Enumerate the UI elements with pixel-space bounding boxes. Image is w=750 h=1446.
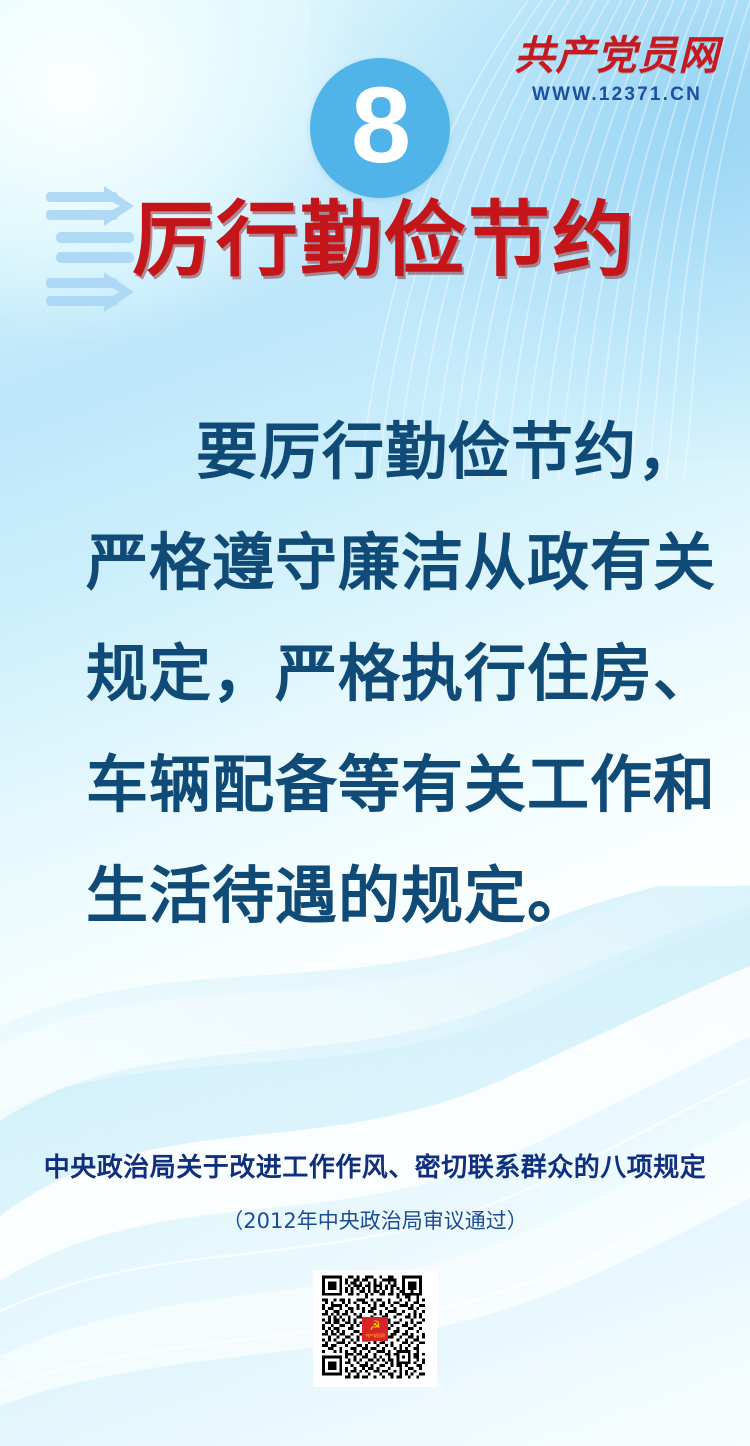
party-emblem-subtext: 共产党员网: [366, 1334, 385, 1338]
body-paragraph: 要厉行勤俭节约， 严格遵守廉洁从政有关 规定，严格执行住房、 车辆配备等有关工作…: [0, 396, 750, 951]
body-line-5: 生活待遇的规定。: [86, 840, 664, 951]
body-line-3: 规定，严格执行住房、: [86, 618, 664, 729]
footer-subtitle: （2012年中央政治局审议通过）: [0, 1208, 750, 1235]
party-emblem-glyph: ☭: [369, 1320, 381, 1333]
qr-code[interactable]: ☭ 共产党员网: [313, 1270, 437, 1387]
brand-logo[interactable]: 共产党员网 WWW.12371.CN: [502, 36, 732, 104]
body-line-4: 车辆配备等有关工作和: [86, 729, 664, 840]
page-title: 厉行勤俭节约: [132, 196, 636, 286]
number-badge-value: 8: [351, 71, 409, 179]
number-badge: 8: [310, 58, 450, 198]
party-emblem-icon: ☭ 共产党员网: [362, 1317, 388, 1341]
brand-name: 共产党员网: [502, 36, 732, 76]
brand-url: WWW.12371.CN: [502, 85, 732, 104]
body-line-2: 严格遵守廉洁从政有关: [86, 507, 664, 618]
body-line-1: 要厉行勤俭节约，: [86, 396, 664, 507]
poster-canvas: 8 共产党员网 WWW.12371.CN: [0, 0, 750, 1446]
footer-title: 中央政治局关于改进工作作风、密切联系群众的八项规定: [0, 1152, 750, 1186]
